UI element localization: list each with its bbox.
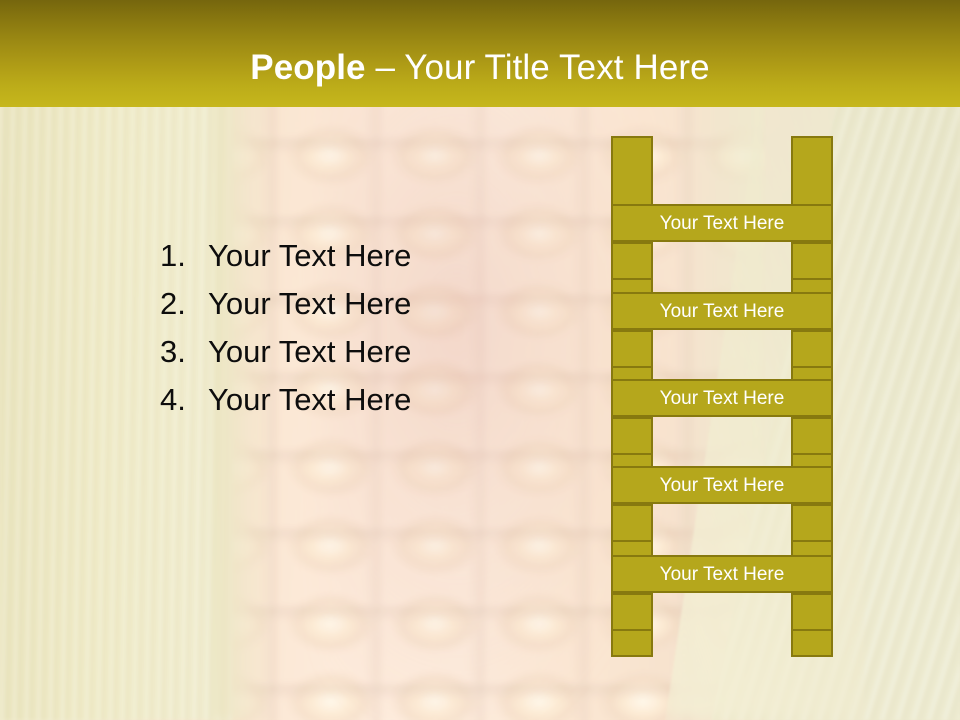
page-title: People – Your Title Text Here: [250, 50, 709, 99]
ladder-rung-label: Your Text Here: [660, 565, 785, 584]
list-item-label: Your Text Here: [208, 328, 411, 376]
ladder-crossbar-segment-left: [611, 504, 653, 542]
ladder-crossbar-segment-left: [611, 593, 653, 631]
numbered-list: 1. Your Text Here 2. Your Text Here 3. Y…: [160, 232, 560, 424]
ladder-crossbar-segment-right: [791, 417, 833, 455]
ladder-rung-label: Your Text Here: [660, 476, 785, 495]
ladder-diagram: Your Text Here Your Text Here Your Text …: [611, 136, 833, 657]
title-bar: People – Your Title Text Here: [0, 0, 960, 107]
ladder-rung-label: Your Text Here: [660, 302, 785, 321]
ladder-crossbar-segment-right: [791, 504, 833, 542]
slide: People – Your Title Text Here 1. Your Te…: [0, 0, 960, 720]
list-item-label: Your Text Here: [208, 280, 411, 328]
ladder-rung-1[interactable]: Your Text Here: [611, 204, 833, 242]
list-item-number: 4.: [160, 376, 208, 424]
ladder-rung-3[interactable]: Your Text Here: [611, 379, 833, 417]
ladder-rung-2[interactable]: Your Text Here: [611, 292, 833, 330]
ladder-rung-5[interactable]: Your Text Here: [611, 555, 833, 593]
ladder-crossbar-segment-left: [611, 417, 653, 455]
list-item-number: 1.: [160, 232, 208, 280]
ladder-crossbar-1: [611, 242, 833, 280]
list-item-label: Your Text Here: [208, 376, 411, 424]
ladder-crossbar-3: [611, 417, 833, 455]
ladder-rung-label: Your Text Here: [660, 214, 785, 233]
list-item[interactable]: 2. Your Text Here: [160, 280, 560, 328]
ladder-crossbar-2: [611, 330, 833, 368]
ladder-crossbar-4: [611, 504, 833, 542]
ladder-crossbar-segment-right: [791, 330, 833, 368]
ladder-crossbar-segment-right: [791, 242, 833, 280]
page-title-emphasis: People: [250, 48, 365, 87]
list-item-number: 2.: [160, 280, 208, 328]
page-title-rest: – Your Title Text Here: [366, 48, 710, 87]
ladder-crossbar-segment-left: [611, 242, 653, 280]
list-item-number: 3.: [160, 328, 208, 376]
ladder-crossbar-segment-left: [611, 330, 653, 368]
list-item-label: Your Text Here: [208, 232, 411, 280]
list-item[interactable]: 4. Your Text Here: [160, 376, 560, 424]
ladder-rung-label: Your Text Here: [660, 389, 785, 408]
ladder-crossbar-segment-right: [791, 593, 833, 631]
ladder-crossbar-5: [611, 593, 833, 631]
list-item[interactable]: 1. Your Text Here: [160, 232, 560, 280]
list-item[interactable]: 3. Your Text Here: [160, 328, 560, 376]
ladder-rung-4[interactable]: Your Text Here: [611, 466, 833, 504]
